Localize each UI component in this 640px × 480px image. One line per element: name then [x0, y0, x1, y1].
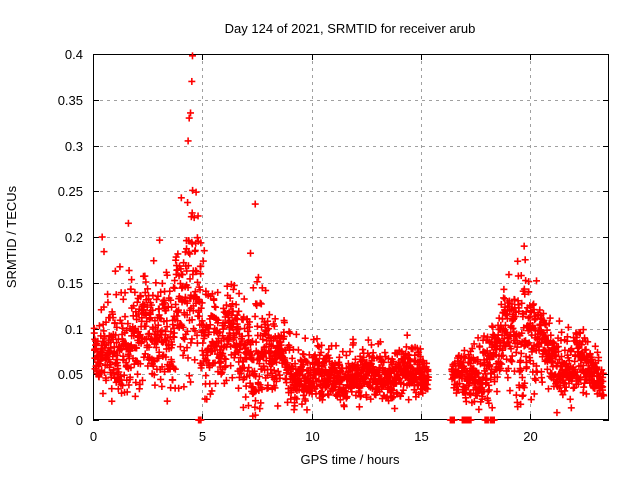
x-tick-label: 0: [90, 429, 97, 444]
y-tick-label: 0.35: [58, 93, 83, 108]
y-tick-label: 0.2: [65, 230, 83, 245]
x-tick-label: 10: [305, 429, 319, 444]
y-tick-label: 0.25: [58, 184, 83, 199]
chart-title: Day 124 of 2021, SRMTID for receiver aru…: [225, 21, 476, 36]
y-tick-label: 0.15: [58, 276, 83, 291]
y-tick-label: 0.05: [58, 367, 83, 382]
chart-container: Day 124 of 2021, SRMTID for receiver aru…: [0, 0, 640, 480]
x-tick-label: 20: [523, 429, 537, 444]
y-tick-label: 0: [76, 413, 83, 428]
x-tick-label: 5: [199, 429, 206, 444]
x-tick-label: 15: [414, 429, 428, 444]
y-tick-label: 0.1: [65, 322, 83, 337]
scatter-plot-svg: Day 124 of 2021, SRMTID for receiver aru…: [0, 0, 640, 480]
x-axis-label: GPS time / hours: [301, 452, 400, 467]
y-tick-label: 0.3: [65, 139, 83, 154]
y-tick-label: 0.4: [65, 47, 83, 62]
chart-background: [0, 0, 640, 480]
y-axis-label: SRMTID / TECUs: [4, 185, 19, 288]
